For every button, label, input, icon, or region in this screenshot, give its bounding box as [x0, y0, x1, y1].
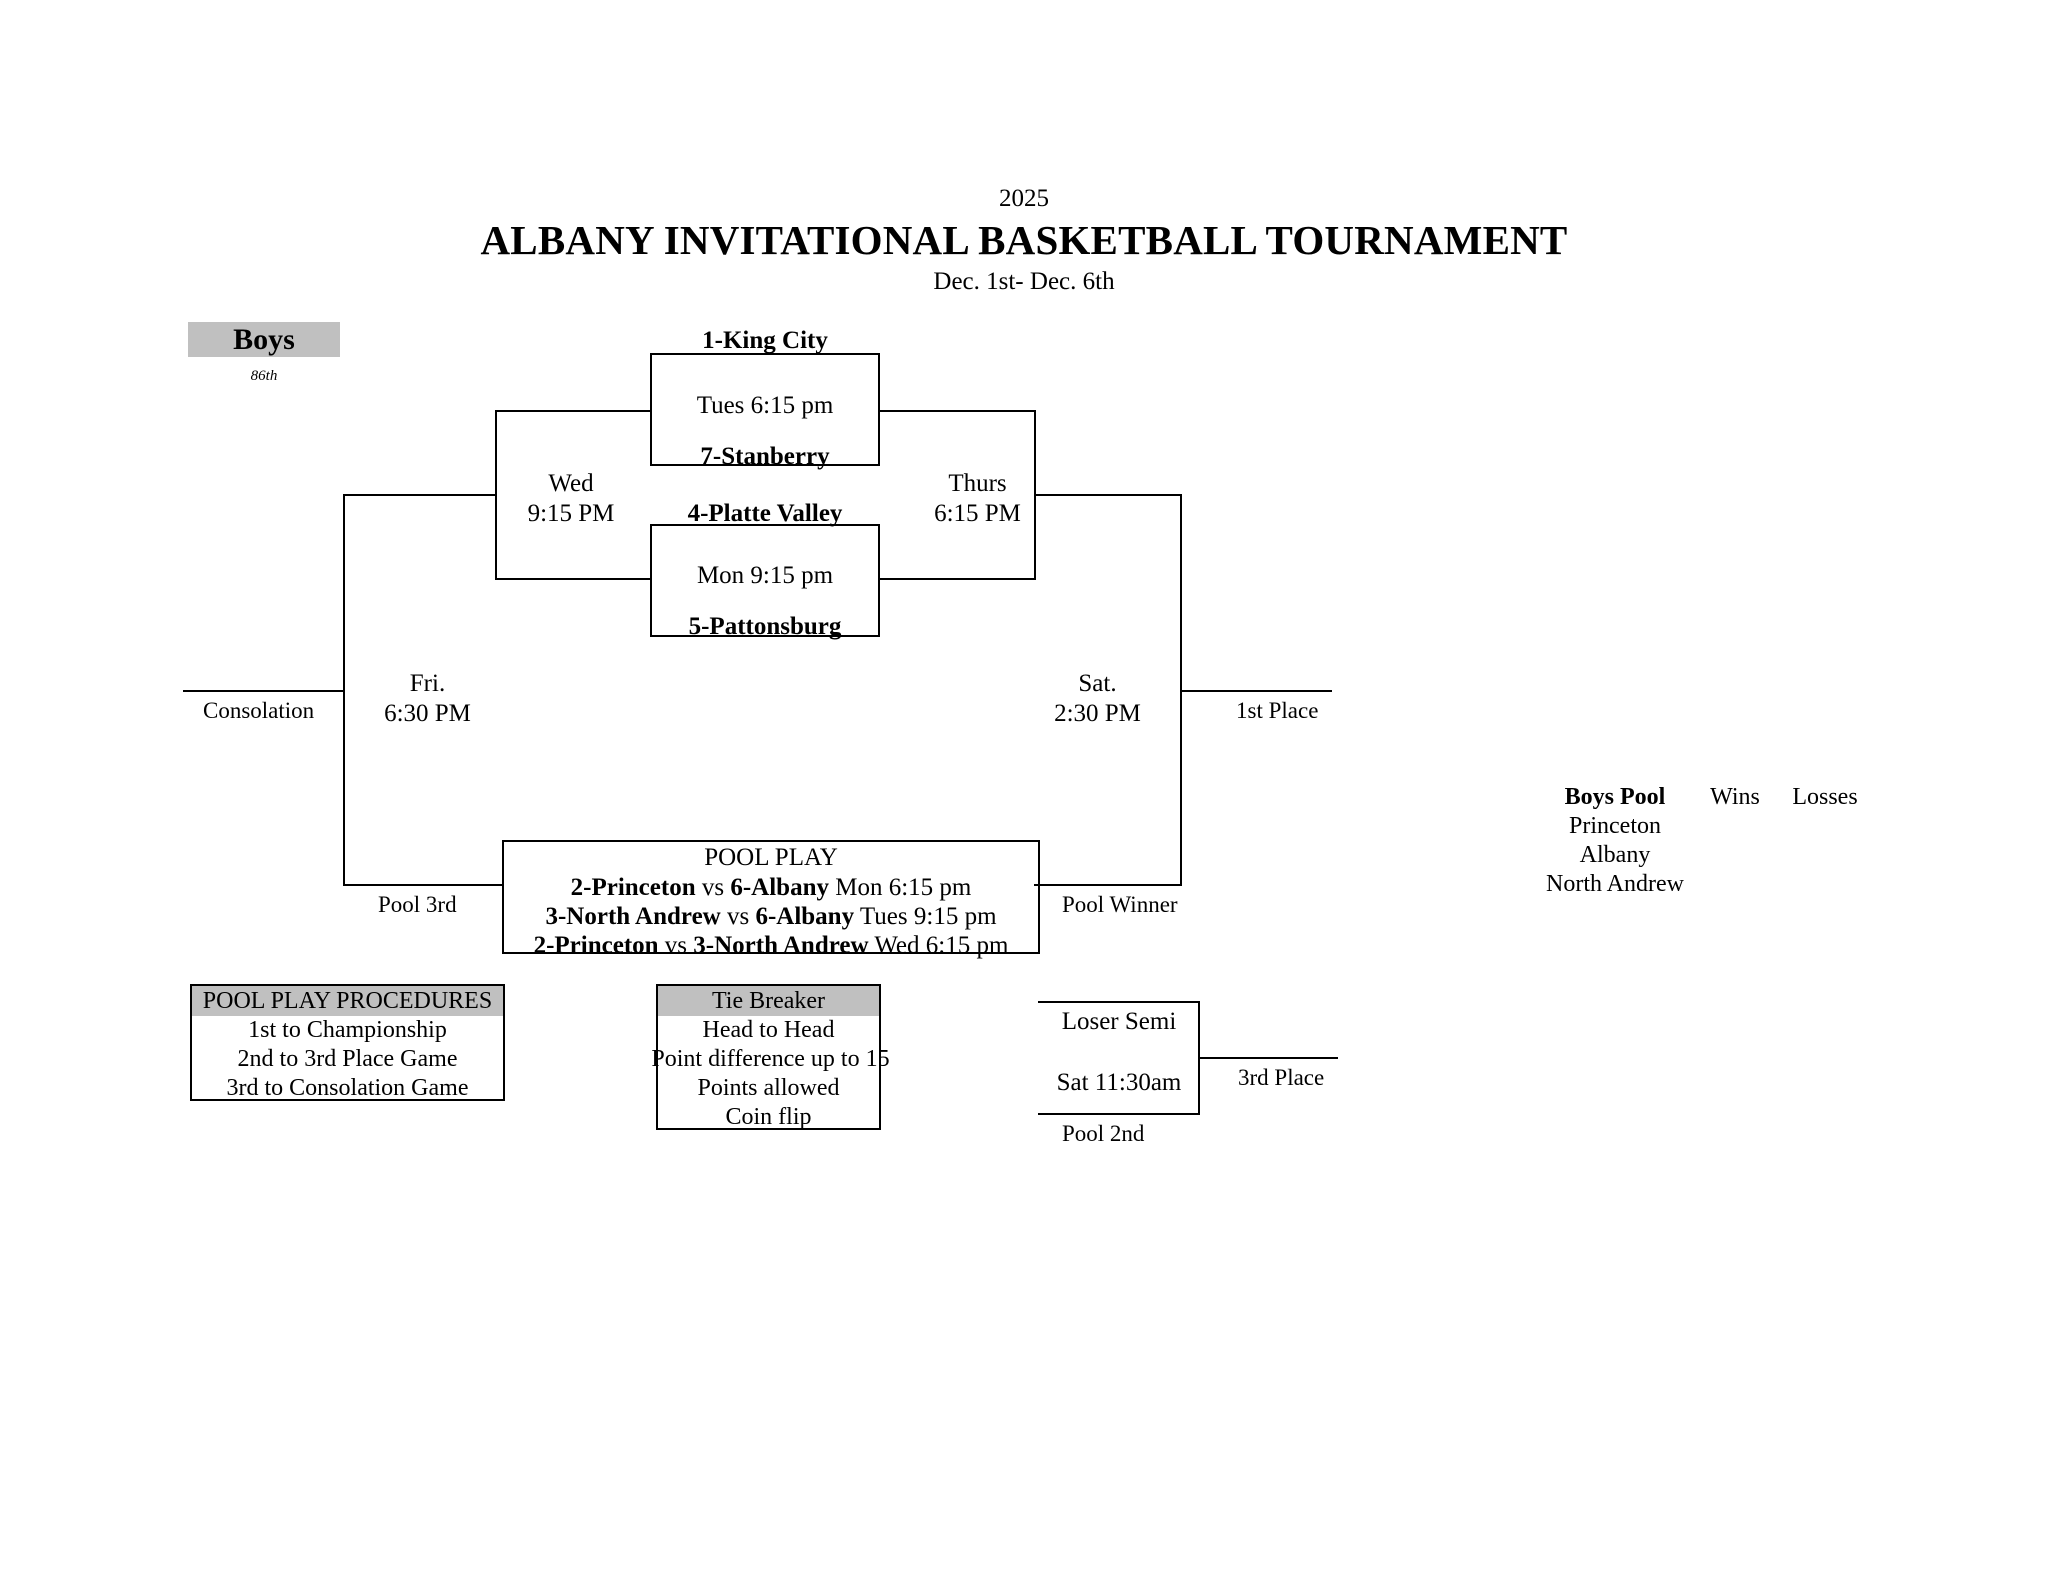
tie-breaker-box: Tie Breaker Head to Head Point differenc… [656, 984, 881, 1130]
pool-game-1-time: Mon 6:15 pm [835, 874, 971, 901]
pool-game-2-time: Tues 9:15 pm [860, 903, 997, 930]
procedures-row: 3rd to Consolation Game [192, 1074, 503, 1103]
championship-time: 2:30 PM [1020, 700, 1175, 728]
standings-losses-header: Losses [1780, 783, 1870, 812]
pool-play-game-row: 2-Princeton vs 6-Albany Mon 6:15 pm [504, 873, 1038, 902]
standings-team-name: North Andrew [1540, 870, 1690, 899]
thurs-semi-time: 6:15 PM [900, 500, 1055, 528]
tournament-dates: Dec. 1st- Dec. 6th [0, 268, 2048, 296]
tie-breaker-row: Coin flip [658, 1103, 879, 1132]
upper-game-top-team: 1-King City [650, 327, 880, 355]
standings-wins-header: Wins [1690, 783, 1780, 812]
tournament-year: 2025 [0, 185, 2048, 213]
standings-team-wins[interactable] [1690, 841, 1780, 870]
first-place-line [1180, 690, 1332, 692]
loser-semi-top-edge [1038, 1001, 1200, 1003]
lower-game-time: Mon 9:15 pm [650, 562, 880, 590]
table-row: Albany [1540, 841, 1870, 870]
pool-game-1-team-a: 2-Princeton [571, 874, 696, 901]
pool-second-label: Pool 2nd [1062, 1121, 1144, 1147]
pool-game-3-team-a: 2-Princeton [534, 932, 659, 959]
pool-game-2-vs: vs [727, 903, 749, 930]
standings-team-wins[interactable] [1690, 812, 1780, 841]
consolation-output-line [183, 690, 345, 692]
pool-game-3-team-b: 3-North Andrew [693, 932, 868, 959]
tie-breaker-row: Points allowed [658, 1074, 879, 1103]
division-edition: 86th [188, 368, 340, 385]
standings-team-losses[interactable] [1780, 812, 1870, 841]
consolation-time: 6:30 PM [350, 700, 505, 728]
championship-day: Sat. [1020, 670, 1175, 698]
tournament-bracket-page: 2025 ALBANY INVITATIONAL BASKETBALL TOUR… [0, 0, 2048, 1583]
pool-play-game-row: 2-Princeton vs 3-North Andrew Wed 6:15 p… [504, 931, 1038, 960]
table-row: Princeton [1540, 812, 1870, 841]
standings-table: Boys Pool Wins Losses Princeton Albany [1540, 783, 1870, 899]
pool-play-procedures-box: POOL PLAY PROCEDURES 1st to Championship… [190, 984, 505, 1101]
pool-winner-label: Pool Winner [1062, 892, 1178, 918]
standings-team-name: Princeton [1540, 812, 1690, 841]
pool-play-box: POOL PLAY 2-Princeton vs 6-Albany Mon 6:… [502, 840, 1040, 954]
first-place-label: 1st Place [1236, 698, 1318, 724]
lower-game-bottom-team: 5-Pattonsburg [650, 613, 880, 641]
standings-team-wins[interactable] [1690, 870, 1780, 899]
pool-third-label: Pool 3rd [378, 892, 457, 918]
consolation-day: Fri. [350, 670, 505, 698]
consolation-upper-feed [343, 494, 497, 496]
upper-game-time: Tues 6:15 pm [650, 392, 880, 420]
pool-game-1-vs: vs [702, 874, 724, 901]
pool-game-3-vs: vs [665, 932, 687, 959]
tie-breaker-header: Tie Breaker [658, 986, 879, 1016]
loser-semi-time: Sat 11:30am [1038, 1069, 1200, 1097]
standings-team-name: Albany [1540, 841, 1690, 870]
third-place-label: 3rd Place [1238, 1065, 1324, 1091]
division-badge: Boys [188, 322, 340, 357]
pool-game-2-team-b: 6-Albany [755, 903, 854, 930]
wed-semi-time: 9:15 PM [496, 500, 646, 528]
procedures-row: 1st to Championship [192, 1016, 503, 1045]
wed-semi-day: Wed [496, 470, 646, 498]
thurs-semi-top-connector [878, 410, 1036, 412]
pool-game-1-team-b: 6-Albany [730, 874, 829, 901]
wed-semi-top-connector [495, 410, 652, 412]
table-row: North Andrew [1540, 870, 1870, 899]
pool-play-game-row: 3-North Andrew vs 6-Albany Tues 9:15 pm [504, 902, 1038, 931]
procedures-header: POOL PLAY PROCEDURES [192, 986, 503, 1016]
wed-semi-bottom-connector [495, 578, 652, 580]
standings-team-losses[interactable] [1780, 870, 1870, 899]
tie-breaker-row: Point difference up to 15 [632, 1045, 909, 1074]
standings-team-losses[interactable] [1780, 841, 1870, 870]
pool-play-title: POOL PLAY [504, 842, 1038, 873]
standings-header-row: Boys Pool Wins Losses [1540, 783, 1870, 812]
procedures-row: 2nd to 3rd Place Game [192, 1045, 503, 1074]
third-place-line [1198, 1057, 1338, 1059]
upper-game-bottom-team: 7-Stanberry [650, 443, 880, 471]
championship-lower-feed [1034, 884, 1182, 886]
consolation-lower-feed [343, 884, 502, 886]
thurs-semi-day: Thurs [900, 470, 1055, 498]
page-title: ALBANY INVITATIONAL BASKETBALL TOURNAMEN… [0, 216, 2048, 264]
loser-semi-bottom-edge [1038, 1113, 1200, 1115]
pool-game-3-time: Wed 6:15 pm [874, 932, 1008, 959]
thurs-semi-bottom-connector [878, 578, 1036, 580]
championship-upper-feed [1034, 494, 1182, 496]
loser-semi-title: Loser Semi [1038, 1008, 1200, 1036]
pool-game-2-team-a: 3-North Andrew [545, 903, 720, 930]
tie-breaker-row: Head to Head [658, 1016, 879, 1045]
standings-team-header: Boys Pool [1540, 783, 1690, 812]
consolation-label: Consolation [203, 698, 314, 724]
